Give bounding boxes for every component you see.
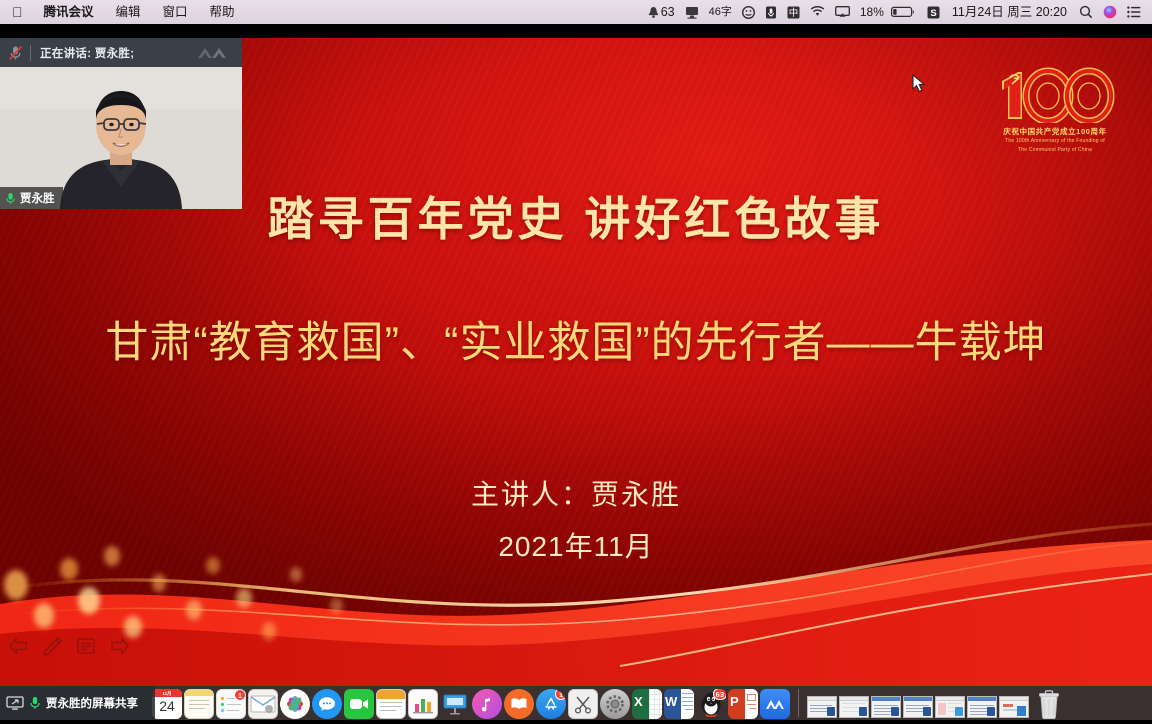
reminders-badge: 1 <box>234 689 246 701</box>
dock-item-numbers[interactable] <box>408 689 438 719</box>
microphone-active-icon <box>29 696 41 711</box>
mouse-pointer-icon <box>912 74 928 99</box>
slide-subtitle: 甘肃“教育救国”、“实业救国”的先行者——牛载坤 <box>0 308 1152 370</box>
minimized-window[interactable] <box>967 696 997 718</box>
dock-item-snipaste[interactable] <box>568 689 598 719</box>
app-store-badge: 1 <box>555 689 566 700</box>
dock-item-mail[interactable] <box>248 689 278 719</box>
window-top-black-strip <box>0 24 1152 38</box>
dock-app-list[interactable]: 11月 24 1 <box>152 689 1063 720</box>
dock-item-facetime[interactable] <box>344 689 374 719</box>
dock-item-microsoft-excel[interactable]: X <box>632 689 662 719</box>
dock-item-reminders[interactable]: 1 <box>216 689 246 719</box>
screen-share-status-bar[interactable]: 贾永胜的屏幕共享 <box>0 686 155 720</box>
dock-item-calendar[interactable]: 11月 24 <box>152 689 182 719</box>
minimized-window[interactable] <box>935 696 965 718</box>
menu-bar-status-area: 63 46字 中 18% S 11月24日 周三 20:20 <box>643 0 1146 24</box>
powerpoint-letter: P <box>730 694 739 709</box>
dock-item-keynote[interactable] <box>440 689 470 719</box>
next-slide-arrow-icon[interactable] <box>108 634 132 658</box>
display-mirror-icon[interactable] <box>680 0 704 24</box>
sogou-input-icon[interactable]: S <box>920 0 945 24</box>
menu-item-help[interactable]: 帮助 <box>199 0 246 24</box>
dock-item-photos[interactable] <box>280 689 310 719</box>
apple-logo-icon[interactable]:  <box>8 0 33 24</box>
microphone-active-icon <box>5 192 16 205</box>
slide-presenter: 主讲人：贾永胜 <box>0 473 1152 513</box>
anniversary-en-line1: The 100th Anniversary of the Founding of <box>980 138 1130 146</box>
dock-item-app-store[interactable]: 1 <box>536 689 566 719</box>
dock-item-pages[interactable] <box>376 689 406 719</box>
dock-item-notes[interactable] <box>184 689 214 719</box>
dock-item-itunes[interactable] <box>472 689 502 719</box>
dock-item-ibooks[interactable] <box>504 689 534 719</box>
dock-divider <box>798 689 799 717</box>
minimized-window[interactable] <box>871 696 901 718</box>
dock-item-system-preferences[interactable] <box>600 689 630 719</box>
screen-share-icon <box>6 696 24 711</box>
pen-annotate-icon[interactable] <box>40 634 64 658</box>
prev-slide-arrow-icon[interactable] <box>6 634 30 658</box>
dock-item-microsoft-powerpoint[interactable]: P <box>728 689 758 719</box>
menu-item-app[interactable]: 腾讯会议 <box>33 0 105 24</box>
dock-item-messages[interactable] <box>312 689 342 719</box>
microphone-icon[interactable] <box>760 0 782 24</box>
macos-dock[interactable]: 11月 24 1 <box>0 686 1152 720</box>
participant-video-feed[interactable]: 贾永胜 <box>0 67 242 209</box>
microphone-muted-icon[interactable] <box>0 45 30 61</box>
siri-icon[interactable] <box>1098 0 1122 24</box>
minimized-window[interactable] <box>807 696 837 718</box>
word-letter: W <box>665 694 677 709</box>
participant-name-tag: 贾永胜 <box>0 187 63 209</box>
word-count-indicator[interactable]: 46字 <box>704 0 737 24</box>
video-panel-header[interactable]: 正在讲话: 贾永胜; <box>0 38 242 67</box>
svg-text:中: 中 <box>789 7 799 19</box>
menu-item-window[interactable]: 窗口 <box>152 0 199 24</box>
macos-menu-bar:  腾讯会议 编辑 窗口 帮助 63 46字 中 18% <box>0 0 1152 24</box>
anniversary-mark-icon <box>980 66 1130 124</box>
notification-count: 63 <box>661 0 675 24</box>
dock-item-qq[interactable]: 63 <box>696 689 726 719</box>
minimized-window[interactable] <box>999 696 1029 718</box>
wifi-icon[interactable] <box>805 0 830 24</box>
menu-bar-datetime[interactable]: 11月24日 周三 20:20 <box>945 0 1074 24</box>
bell-icon[interactable]: 63 <box>643 0 680 24</box>
airplay-icon[interactable] <box>830 0 855 24</box>
participant-video-panel[interactable]: 正在讲话: 贾永胜; <box>0 38 242 209</box>
anniversary-en-line2: The Communist Party of China <box>980 147 1130 155</box>
tencent-meeting-logo-icon[interactable] <box>190 42 238 64</box>
slide-menu-icon[interactable] <box>74 634 98 658</box>
speaking-status-label: 正在讲话: 贾永胜; <box>40 45 134 61</box>
menu-bar-left:  腾讯会议 编辑 窗口 帮助 <box>8 0 246 24</box>
presentation-toolbar[interactable] <box>6 634 132 658</box>
battery-percent: 18% <box>855 0 889 24</box>
dock-item-microsoft-word[interactable]: W <box>664 689 694 719</box>
spotlight-search-icon[interactable] <box>1074 0 1098 24</box>
svg-text:S: S <box>930 8 936 19</box>
calendar-day-number: 24 <box>152 698 182 714</box>
slide-decorative-ribbons <box>0 516 1152 686</box>
menu-item-edit[interactable]: 编辑 <box>105 0 152 24</box>
excel-letter: X <box>634 694 643 709</box>
qq-badge: 63 <box>713 689 726 700</box>
screen-share-label: 贾永胜的屏幕共享 <box>46 695 138 711</box>
participant-name-label: 贾永胜 <box>20 190 55 206</box>
smiley-face-icon[interactable] <box>737 0 760 24</box>
minimized-window[interactable] <box>839 696 869 718</box>
header-divider <box>30 45 31 61</box>
cpc-100-anniversary-logo: 庆祝中国共产党成立100周年 The 100th Anniversary of … <box>980 66 1130 158</box>
dock-item-tencent-meeting[interactable] <box>760 689 790 719</box>
minimized-window[interactable] <box>903 696 933 718</box>
input-method-indicator[interactable]: 中 <box>782 0 805 24</box>
trash-icon[interactable] <box>1035 689 1063 719</box>
battery-icon[interactable] <box>889 0 920 24</box>
control-center-icon[interactable] <box>1122 0 1146 24</box>
anniversary-cn-text: 庆祝中国共产党成立100周年 <box>980 126 1130 137</box>
